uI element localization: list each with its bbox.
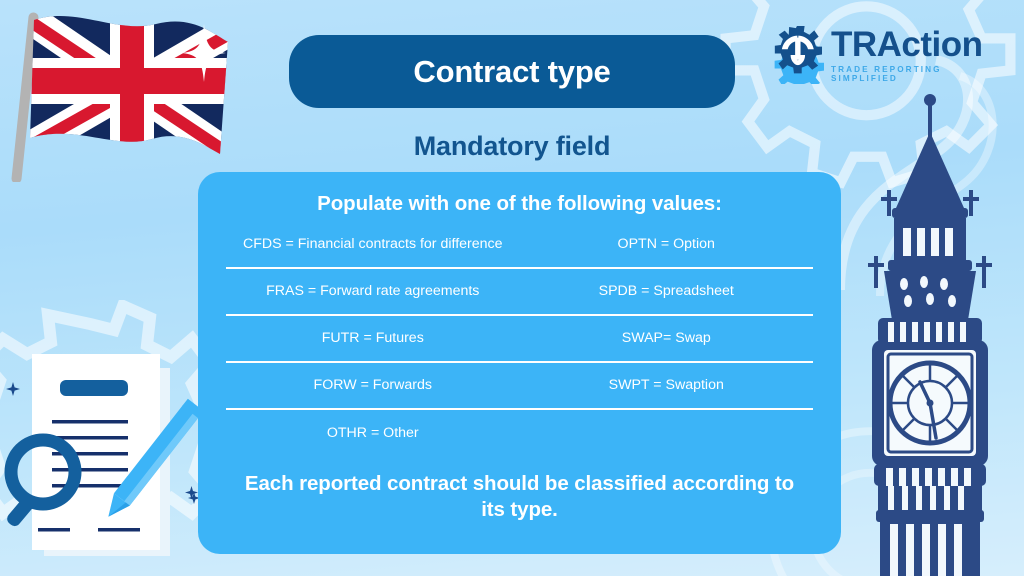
logo-tagline: TRADE REPORTING SIMPLIFIED: [831, 65, 1002, 83]
values-card: Populate with one of the following value…: [198, 172, 841, 554]
card-footer-note: Each reported contract should be classif…: [216, 457, 823, 527]
value-cell-right: OPTN = Option: [520, 230, 814, 259]
value-cell-right: SWPT = Swaption: [520, 371, 814, 400]
table-row: FORW = Forwards SWPT = Swaption: [226, 363, 813, 410]
value-cell-right: SWAP= Swap: [520, 324, 814, 353]
table-row: FUTR = Futures SWAP= Swap: [226, 316, 813, 363]
value-cell-right: SPDB = Spreadsheet: [520, 277, 814, 306]
big-ben-illustration: [844, 86, 1016, 576]
value-cell-left: CFDS = Financial contracts for differenc…: [226, 230, 520, 259]
traction-logo: TRAction TRADE REPORTING SIMPLIFIED: [762, 24, 1002, 86]
big-ben-icon: [844, 86, 1016, 576]
page-title-pill: Contract type: [289, 35, 735, 108]
table-row: CFDS = Financial contracts for differenc…: [226, 222, 813, 269]
document-magnifier-pencil-icon: [2, 342, 214, 576]
table-row: OTHR = Other: [226, 410, 813, 457]
gear-arrow-icon: [762, 26, 824, 84]
flag-sparkle-icon: [182, 24, 226, 82]
document-magnifier-illustration: [2, 342, 214, 576]
value-cell-left: FRAS = Forward rate agreements: [226, 277, 520, 306]
mandatory-field-subtitle: Mandatory field: [289, 131, 735, 162]
logo-wordmark: TRAction: [831, 27, 1002, 62]
card-heading: Populate with one of the following value…: [216, 184, 823, 222]
values-table: CFDS = Financial contracts for differenc…: [216, 222, 823, 457]
page-title: Contract type: [413, 54, 610, 90]
value-cell-left: FORW = Forwards: [226, 371, 520, 400]
uk-flag-illustration: [6, 2, 246, 182]
table-row: FRAS = Forward rate agreements SPDB = Sp…: [226, 269, 813, 316]
value-cell-left: FUTR = Futures: [226, 324, 520, 353]
value-cell-left: OTHR = Other: [226, 419, 520, 448]
